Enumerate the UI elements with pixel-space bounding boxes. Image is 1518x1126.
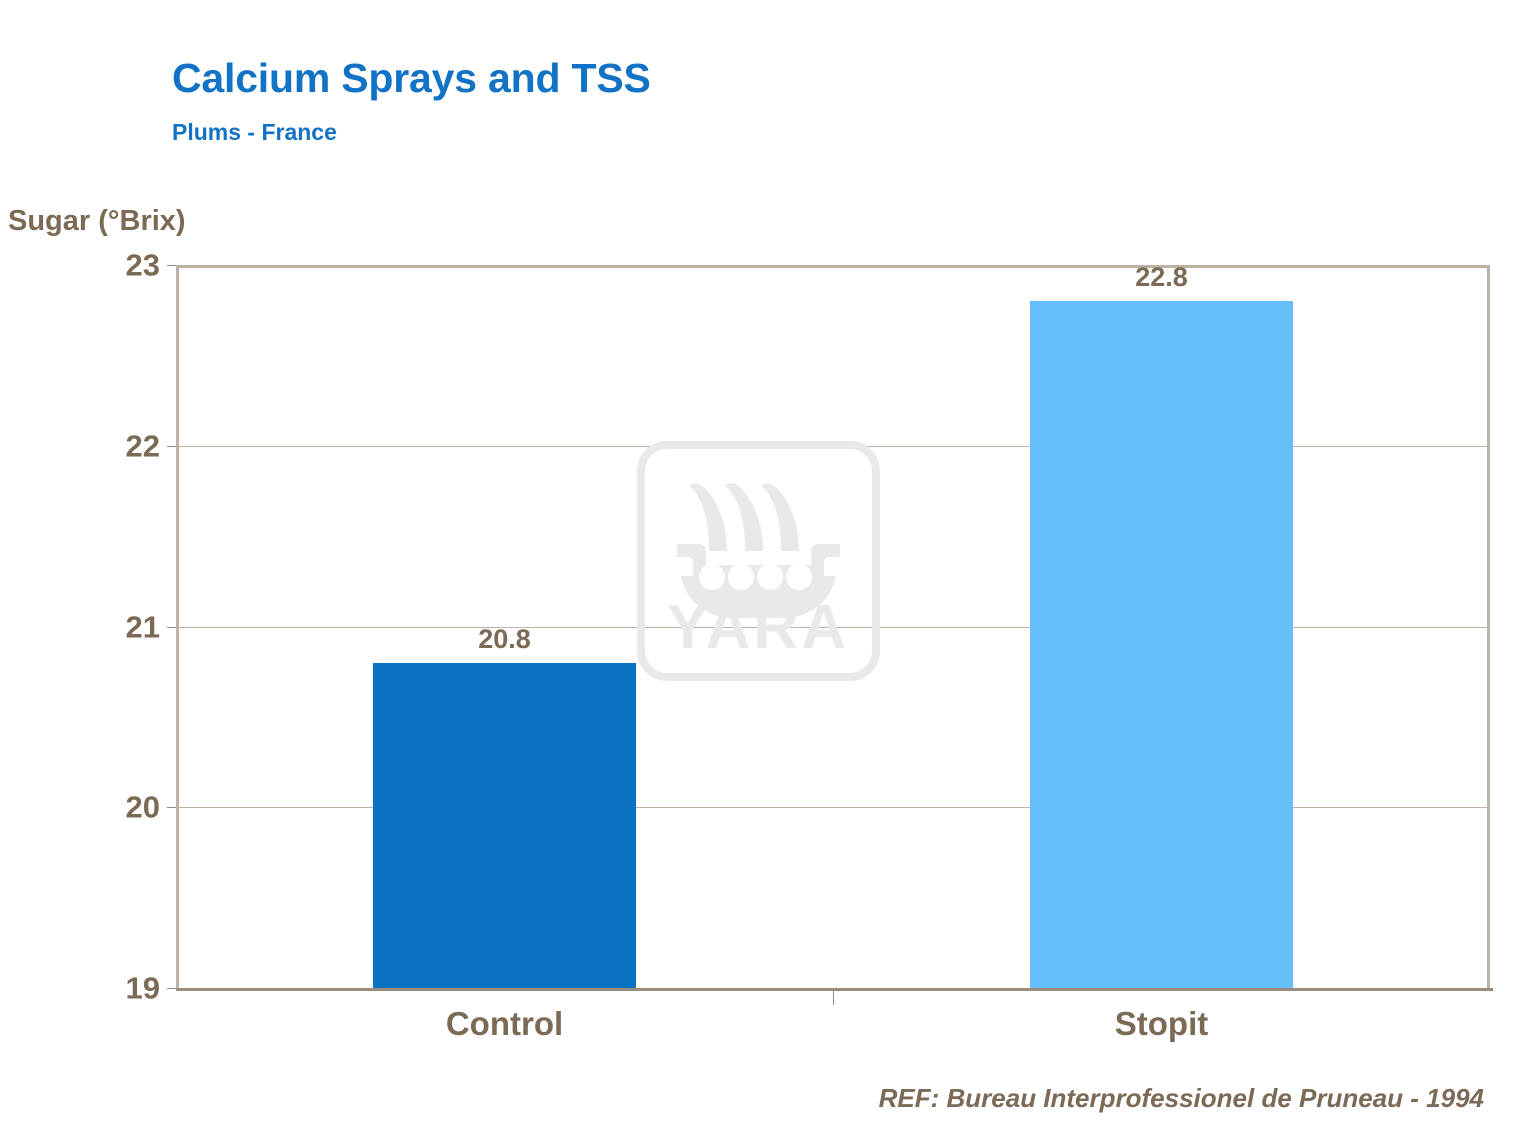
bar-stopit[interactable] — [1030, 301, 1293, 988]
y-tick-label: 20 — [126, 792, 160, 823]
y-tick-label: 19 — [126, 973, 160, 1004]
bar-value-label: 20.8 — [478, 624, 531, 655]
y-tick-label: 21 — [126, 611, 160, 642]
plot-area: 20.822.8 — [176, 265, 1490, 988]
reference-note: REF: Bureau Interprofessionel de Pruneau… — [879, 1083, 1484, 1114]
y-tick-mark — [167, 627, 176, 628]
x-axis-tick-labels: ControlStopit — [176, 1005, 1490, 1051]
chart-title: Calcium Sprays and TSS — [172, 55, 651, 102]
y-tick-label: 23 — [126, 250, 160, 281]
y-tick-mark — [167, 807, 176, 808]
y-tick-mark — [167, 988, 176, 989]
y-axis-title: Sugar (°Brix) — [8, 205, 186, 238]
x-axis-center-tick — [176, 991, 1490, 1005]
y-tick-label: 22 — [126, 430, 160, 461]
y-tick-mark — [167, 265, 176, 266]
y-tick-mark — [167, 446, 176, 447]
y-axis-line — [176, 265, 179, 991]
plot-border-top — [176, 265, 1490, 268]
y-axis-tick-labels: 1920212223 — [90, 265, 160, 988]
x-tick-label-control: Control — [446, 1005, 563, 1043]
bar-control[interactable] — [373, 663, 636, 988]
bar-value-label: 22.8 — [1135, 262, 1188, 293]
x-tick-label-stopit: Stopit — [1115, 1005, 1208, 1043]
chart-subtitle: Plums - France — [172, 119, 337, 146]
